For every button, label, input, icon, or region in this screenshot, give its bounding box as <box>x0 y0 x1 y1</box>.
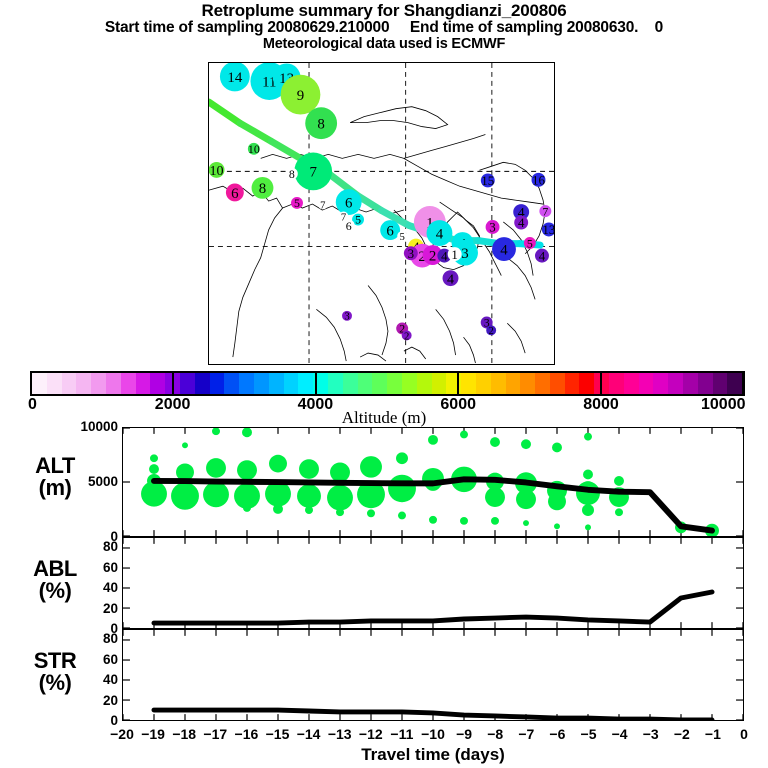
colorbar-swatch <box>195 373 210 394</box>
colorbar-major-tick <box>172 371 174 396</box>
x-tick-label: −13 <box>320 726 360 742</box>
abl-chart[interactable] <box>122 537 744 629</box>
svg-text:4: 4 <box>441 248 448 263</box>
colorbar-swatch <box>47 373 62 394</box>
svg-text:2: 2 <box>429 248 436 264</box>
x-tick-label: −16 <box>226 726 266 742</box>
x-tick-label: −17 <box>195 726 235 742</box>
alt-label-line2: (m) <box>8 477 102 499</box>
svg-text:3: 3 <box>489 220 495 235</box>
svg-text:6: 6 <box>346 219 352 233</box>
colorbar-swatch <box>121 373 136 394</box>
colorbar-swatch <box>683 373 698 394</box>
alt-chart[interactable] <box>122 427 744 537</box>
svg-text:3: 3 <box>344 311 349 323</box>
abl-ticks <box>123 538 743 628</box>
x-tick-label: −2 <box>662 726 702 742</box>
svg-text:4: 4 <box>447 271 454 287</box>
svg-text:4: 4 <box>436 226 444 242</box>
colorbar-axis-title: Altitude (m) <box>0 408 768 428</box>
x-tick-label: −15 <box>258 726 298 742</box>
str-chart[interactable] <box>122 629 744 721</box>
abl-line <box>154 592 712 623</box>
svg-text:13: 13 <box>542 222 554 237</box>
svg-text:4: 4 <box>500 242 508 258</box>
x-tick-label: −8 <box>475 726 515 742</box>
colorbar-major-tick <box>743 371 745 396</box>
colorbar-swatch <box>668 373 683 394</box>
svg-text:15: 15 <box>481 173 494 188</box>
colorbar-swatch <box>432 373 447 394</box>
colorbar-swatch <box>328 373 343 394</box>
colorbar-swatch <box>461 373 476 394</box>
svg-text:3: 3 <box>461 246 468 262</box>
colorbar-swatch <box>491 373 506 394</box>
x-tick-label: −3 <box>631 726 671 742</box>
colorbar-swatch <box>565 373 580 394</box>
x-axis-title: Travel time (days) <box>122 745 744 765</box>
altitude-colorbar[interactable] <box>30 371 744 396</box>
x-tick-label: −14 <box>289 726 329 742</box>
colorbar-major-tick <box>600 371 602 396</box>
svg-text:4: 4 <box>518 215 525 230</box>
title-block: Retroplume summary for Shangdianzi_20080… <box>0 2 768 53</box>
x-tick-label: −18 <box>164 726 204 742</box>
x-tick-label: −11 <box>382 726 422 742</box>
x-tick-label: −9 <box>444 726 484 742</box>
svg-text:8: 8 <box>317 117 324 133</box>
x-tick-label: −7 <box>506 726 546 742</box>
x-tick-label: −6 <box>537 726 577 742</box>
x-tick-label: −20 <box>102 726 142 742</box>
svg-text:5: 5 <box>294 196 300 210</box>
colorbar-swatch <box>224 373 239 394</box>
colorbar-swatch <box>239 373 254 394</box>
colorbar-swatch <box>535 373 550 394</box>
colorbar-swatch <box>254 373 269 394</box>
svg-text:8: 8 <box>289 167 295 181</box>
abl-label-line2: (%) <box>8 580 102 602</box>
x-tick-label: −10 <box>413 726 453 742</box>
y-tick-label: 80 <box>48 539 118 554</box>
colorbar-swatch <box>91 373 106 394</box>
colorbar-swatch <box>550 373 565 394</box>
svg-text:6: 6 <box>231 186 238 202</box>
svg-text:5: 5 <box>527 236 533 250</box>
alt-chart-canvas <box>123 428 743 536</box>
colorbar-swatch <box>713 373 728 394</box>
colorbar-swatch <box>624 373 639 394</box>
colorbar-swatch <box>506 373 521 394</box>
str-label-line2: (%) <box>8 672 102 694</box>
colorbar-swatch <box>343 373 358 394</box>
svg-text:7: 7 <box>320 199 326 211</box>
svg-text:16: 16 <box>532 172 545 187</box>
svg-text:14: 14 <box>227 70 242 86</box>
trajectory-map[interactable]: 1411139810108678576756651442234431441516… <box>208 62 555 365</box>
colorbar-swatch <box>358 373 373 394</box>
abl-chart-canvas <box>123 538 743 628</box>
x-tick-label: −5 <box>569 726 609 742</box>
svg-text:10: 10 <box>209 163 223 179</box>
svg-text:6: 6 <box>386 223 393 239</box>
svg-text:10: 10 <box>248 142 260 156</box>
colorbar-swatch <box>284 373 299 394</box>
str-panel-label: STR (%) <box>8 650 102 694</box>
colorbar-swatch <box>210 373 225 394</box>
x-tick-label: −12 <box>351 726 391 742</box>
map-canvas: 1411139810108678576756651442234431441516… <box>209 63 554 364</box>
svg-text:2: 2 <box>404 330 409 342</box>
colorbar-swatch <box>639 373 654 394</box>
colorbar-swatch <box>76 373 91 394</box>
colorbar-swatch <box>476 373 491 394</box>
colorbar-swatch <box>609 373 624 394</box>
colorbar-swatch <box>727 373 742 394</box>
y-tick-label: 0 <box>48 713 118 728</box>
colorbar-swatch <box>417 373 432 394</box>
colorbar-swatch <box>698 373 713 394</box>
page-title: Retroplume summary for Shangdianzi_20080… <box>0 2 768 20</box>
colorbar-swatch <box>106 373 121 394</box>
abl-label-line1: ABL <box>8 558 102 580</box>
svg-text:3: 3 <box>408 246 414 261</box>
svg-text:8: 8 <box>259 181 266 197</box>
colorbar-swatch <box>136 373 151 394</box>
x-tick-label: −4 <box>600 726 640 742</box>
svg-text:5: 5 <box>400 231 405 243</box>
x-tick-label: −1 <box>693 726 733 742</box>
colorbar-major-tick <box>457 371 459 396</box>
colorbar-swatch <box>32 373 47 394</box>
str-ticks <box>123 630 743 720</box>
str-label-line1: STR <box>8 650 102 672</box>
colorbar-major-tick <box>315 371 317 396</box>
colorbar-swatch <box>180 373 195 394</box>
map-marker-layer[interactable]: 1411139810108678576756651442234431441516… <box>209 63 554 342</box>
colorbar-swatch <box>402 373 417 394</box>
alt-label-line1: ALT <box>8 455 102 477</box>
svg-text:7: 7 <box>309 165 317 181</box>
sampling-time-line: Start time of sampling 20080629.210000 E… <box>0 20 768 37</box>
colorbar-swatch <box>150 373 165 394</box>
colorbar-swatch <box>387 373 402 394</box>
svg-text:5: 5 <box>355 213 361 227</box>
colorbar-swatch <box>372 373 387 394</box>
y-tick-label: 0 <box>48 621 118 636</box>
str-chart-canvas <box>123 630 743 720</box>
colorbar-swatch <box>298 373 313 394</box>
y-tick-label: 0 <box>48 529 118 544</box>
svg-text:4: 4 <box>539 248 546 263</box>
colorbar-swatch <box>653 373 668 394</box>
svg-text:6: 6 <box>345 195 352 211</box>
alt-panel-label: ALT (m) <box>8 455 102 499</box>
svg-text:1: 1 <box>451 247 457 262</box>
colorbar-swatch <box>62 373 77 394</box>
x-tick-label: 0 <box>724 726 764 742</box>
colorbar-swatch <box>520 373 535 394</box>
abl-panel-label: ABL (%) <box>8 558 102 602</box>
x-tick-label: −19 <box>133 726 173 742</box>
meteorology-line: Meteorological data used is ECMWF <box>0 37 768 53</box>
svg-text:2: 2 <box>488 325 493 337</box>
colorbar-swatch <box>579 373 594 394</box>
colorbar-swatch <box>269 373 284 394</box>
svg-text:9: 9 <box>297 88 304 104</box>
svg-text:7: 7 <box>542 204 548 218</box>
y-tick-label: 80 <box>48 631 118 646</box>
